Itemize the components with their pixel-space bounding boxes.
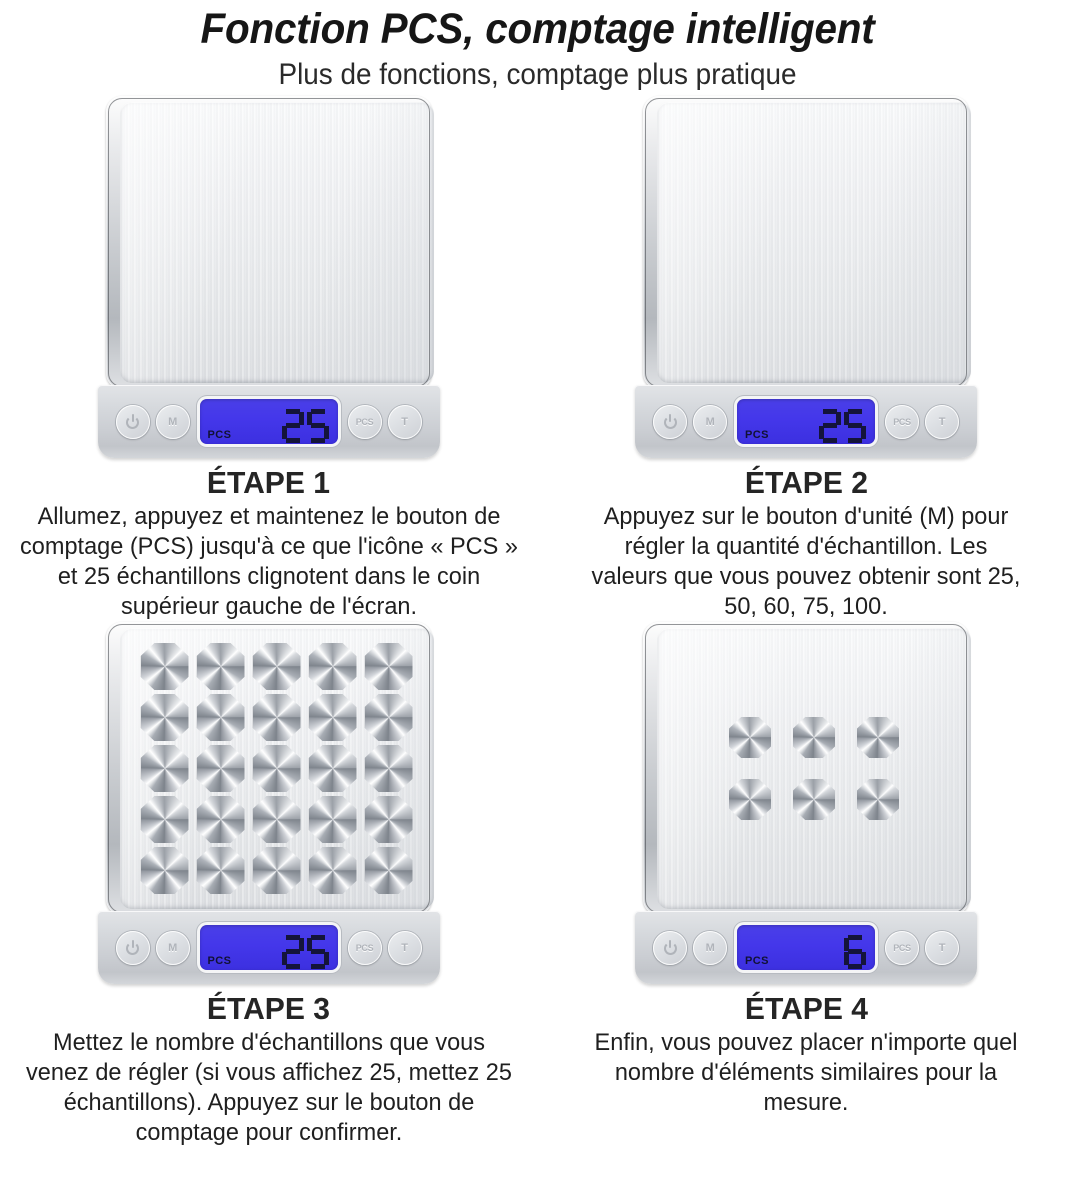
lcd-display: PCS <box>200 925 338 970</box>
lcd-unit-label: PCS <box>745 955 769 967</box>
mode-button-label: M <box>706 942 715 954</box>
lcd-digit <box>307 935 329 969</box>
pcs-button-label: PCS <box>893 943 911 953</box>
sample-disc <box>253 796 301 843</box>
kitchen-scale-3: M PCS PCS T <box>98 622 440 984</box>
platform-bezel <box>106 96 432 389</box>
lcd-value <box>844 935 866 969</box>
samples-layer <box>657 102 971 383</box>
kitchen-scale-2: M PCS PCS T <box>635 96 977 458</box>
sample-disc <box>729 779 771 820</box>
sample-disc <box>309 694 357 741</box>
sample-disc <box>197 796 245 843</box>
tare-button[interactable]: T <box>925 931 959 965</box>
lcd-digit <box>844 935 866 969</box>
control-panel: M PCS PCS T <box>98 385 440 458</box>
lcd-unit-label: PCS <box>208 955 232 967</box>
step-title: ÉTAPE 3 <box>207 990 330 1028</box>
mode-button-label: M <box>168 942 177 954</box>
mode-button[interactable]: M <box>156 405 190 439</box>
power-icon <box>126 942 139 955</box>
tare-button[interactable]: T <box>388 931 422 965</box>
lcd-digit <box>282 409 304 443</box>
sample-disc <box>365 643 413 690</box>
sample-disc <box>197 745 245 792</box>
weighing-platform <box>120 102 434 383</box>
platform-bezel <box>106 622 432 915</box>
pcs-button[interactable]: PCS <box>348 405 382 439</box>
tare-button-label: T <box>939 942 945 954</box>
pcs-button[interactable]: PCS <box>885 931 919 965</box>
step-description: Allumez, appuyez et maintenez le bouton … <box>19 502 518 622</box>
weighing-platform <box>120 628 434 909</box>
control-panel: M PCS PCS T <box>635 385 977 458</box>
sample-disc <box>197 847 245 894</box>
platform-bezel <box>643 96 969 389</box>
step-card-4: M PCS PCS T ÉTAPE 4 Enfin, vous pouvez p… <box>537 622 1075 1148</box>
step-title: ÉTAPE 2 <box>744 464 867 502</box>
sample-disc <box>253 694 301 741</box>
kitchen-scale-4: M PCS PCS T <box>635 622 977 984</box>
lcd-digit <box>819 409 841 443</box>
lcd-display: PCS <box>737 399 875 444</box>
sample-disc <box>309 796 357 843</box>
mode-button[interactable]: M <box>156 931 190 965</box>
page-subtitle: Plus de fonctions, comptage plus pratiqu… <box>38 56 1038 94</box>
sample-disc-grid <box>137 641 417 896</box>
power-button[interactable] <box>116 405 150 439</box>
mode-button-label: M <box>706 416 715 428</box>
step-card-1: M PCS PCS T ÉTAPE 1 Allumez, appuyez et … <box>0 96 537 622</box>
steps-grid: M PCS PCS T ÉTAPE 1 Allumez, appuyez et … <box>0 96 1075 1148</box>
sample-disc <box>141 694 189 741</box>
step-title: ÉTAPE 4 <box>744 990 867 1028</box>
sample-disc-grid <box>718 707 910 831</box>
step-description: Enfin, vous pouvez placer n'importe quel… <box>590 1028 1022 1118</box>
control-panel: M PCS PCS T <box>635 911 977 984</box>
power-button[interactable] <box>653 405 687 439</box>
lcd-value <box>819 409 866 443</box>
kitchen-scale-1: M PCS PCS T <box>98 96 440 458</box>
page-title: Fonction PCS, comptage intelligent <box>32 4 1043 54</box>
power-button[interactable] <box>116 931 150 965</box>
lcd-digit <box>844 409 866 443</box>
lcd-unit-label: PCS <box>745 429 769 441</box>
tare-button-label: T <box>401 416 407 428</box>
sample-disc <box>365 847 413 894</box>
step-card-2: M PCS PCS T ÉTAPE 2 Appuyez sur le bouto… <box>537 96 1075 622</box>
sample-disc <box>253 847 301 894</box>
sample-disc <box>309 745 357 792</box>
sample-disc <box>197 643 245 690</box>
samples-layer <box>657 628 971 909</box>
tare-button-label: T <box>401 942 407 954</box>
step-card-3: M PCS PCS T ÉTAPE 3 Mettez le nombre d'é… <box>0 622 537 1148</box>
sample-disc <box>309 643 357 690</box>
pcs-button-label: PCS <box>356 943 374 953</box>
sample-disc <box>141 847 189 894</box>
lcd-digit <box>282 935 304 969</box>
pcs-button-label: PCS <box>356 417 374 427</box>
page-header: Fonction PCS, comptage intelligent Plus … <box>0 0 1075 94</box>
step-description: Appuyez sur le bouton d'unité (M) pour r… <box>590 502 1022 622</box>
power-icon <box>664 416 677 429</box>
sample-disc <box>793 717 835 758</box>
sample-disc <box>857 779 899 820</box>
tare-button-label: T <box>939 416 945 428</box>
weighing-platform <box>657 628 971 909</box>
pcs-button-label: PCS <box>893 417 911 427</box>
sample-disc <box>365 694 413 741</box>
power-button[interactable] <box>653 931 687 965</box>
step-description: Mettez le nombre d'échantillons que vous… <box>19 1028 518 1148</box>
sample-disc <box>141 643 189 690</box>
sample-disc <box>141 745 189 792</box>
sample-disc <box>793 779 835 820</box>
platform-bezel <box>643 622 969 915</box>
mode-button[interactable]: M <box>693 405 727 439</box>
sample-disc <box>253 643 301 690</box>
sample-disc <box>197 694 245 741</box>
samples-layer <box>120 628 434 909</box>
mode-button[interactable]: M <box>693 931 727 965</box>
samples-layer <box>120 102 434 383</box>
pcs-button[interactable]: PCS <box>885 405 919 439</box>
mode-button-label: M <box>168 416 177 428</box>
weighing-platform <box>657 102 971 383</box>
sample-disc <box>729 717 771 758</box>
lcd-digit <box>307 409 329 443</box>
tare-button[interactable]: T <box>388 405 422 439</box>
tare-button[interactable]: T <box>925 405 959 439</box>
sample-disc <box>857 717 899 758</box>
lcd-unit-label: PCS <box>208 429 232 441</box>
control-panel: M PCS PCS T <box>98 911 440 984</box>
lcd-value <box>282 409 329 443</box>
power-icon <box>664 942 677 955</box>
pcs-button[interactable]: PCS <box>348 931 382 965</box>
lcd-display: PCS <box>737 925 875 970</box>
power-icon <box>126 416 139 429</box>
sample-disc <box>253 745 301 792</box>
sample-disc <box>365 796 413 843</box>
step-title: ÉTAPE 1 <box>207 464 330 502</box>
sample-disc <box>365 745 413 792</box>
sample-disc <box>141 796 189 843</box>
lcd-value <box>282 935 329 969</box>
sample-disc <box>309 847 357 894</box>
lcd-display: PCS <box>200 399 338 444</box>
